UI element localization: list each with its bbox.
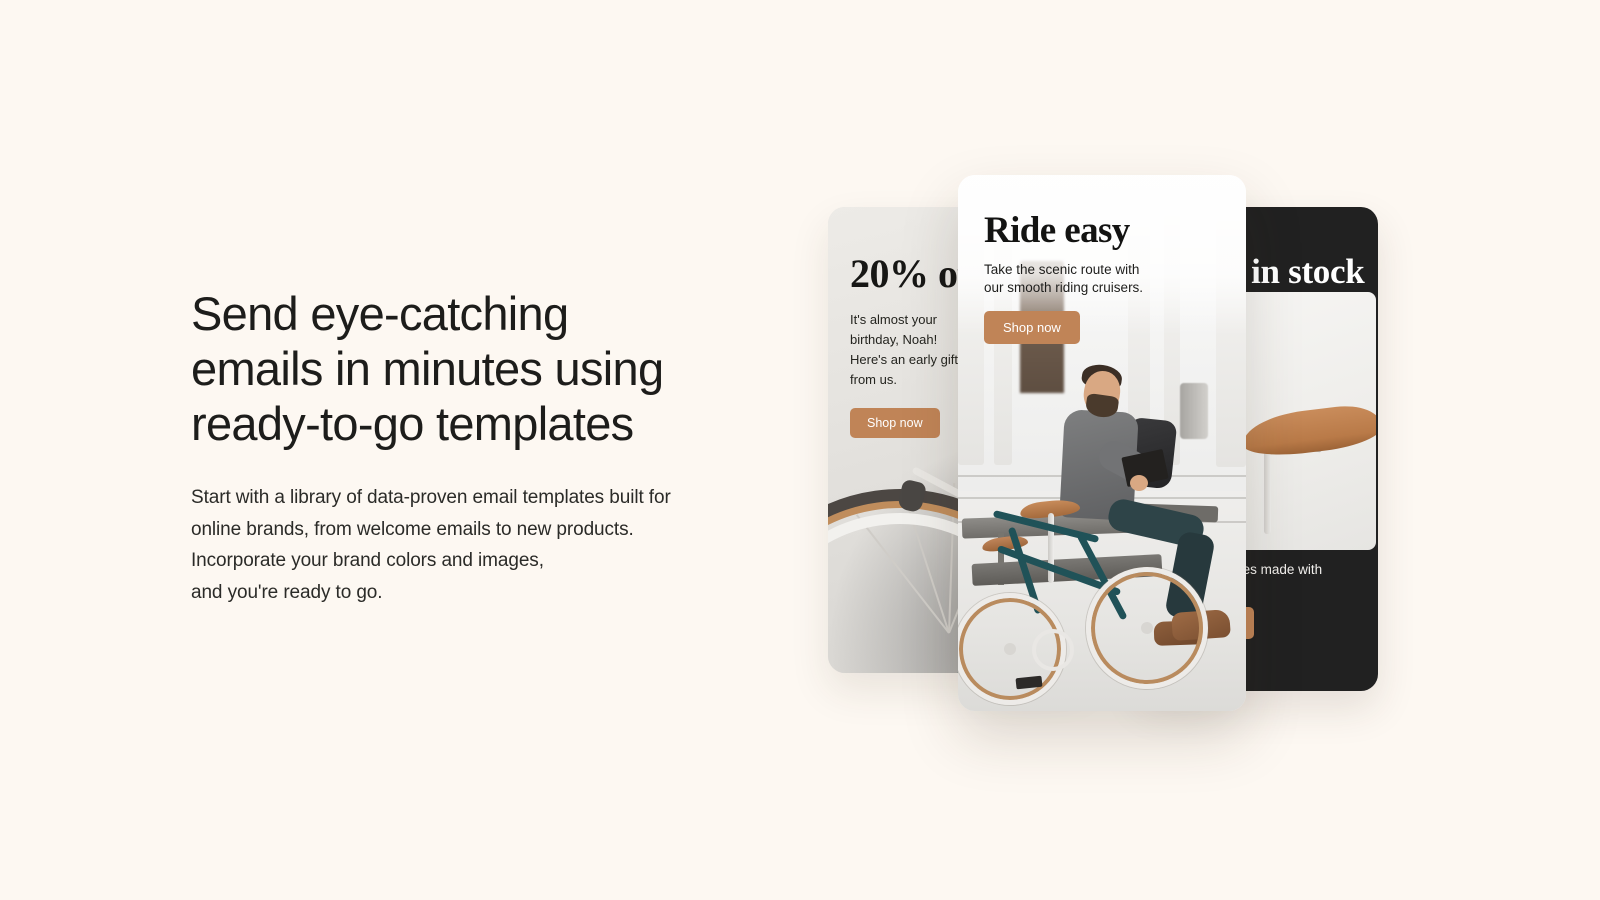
card-heading: Ride easy (984, 211, 1222, 251)
shop-now-button[interactable]: Shop now (984, 311, 1080, 344)
email-template-card-ride-easy[interactable]: Ride easy Take the scenic route with our… (958, 175, 1246, 711)
card-body-text: Take the scenic route with our smooth ri… (984, 261, 1222, 297)
shop-now-button[interactable]: Shop now (850, 408, 940, 438)
card-body-text: It's almost your birthday, Noah! Here's … (850, 310, 970, 390)
hero-section: Send eye-catching emails in minutes usin… (0, 0, 1600, 900)
template-card-cluster: 20% off It's almost your birthday, Noah!… (0, 0, 1600, 900)
card-content: Ride easy Take the scenic route with our… (984, 211, 1222, 344)
